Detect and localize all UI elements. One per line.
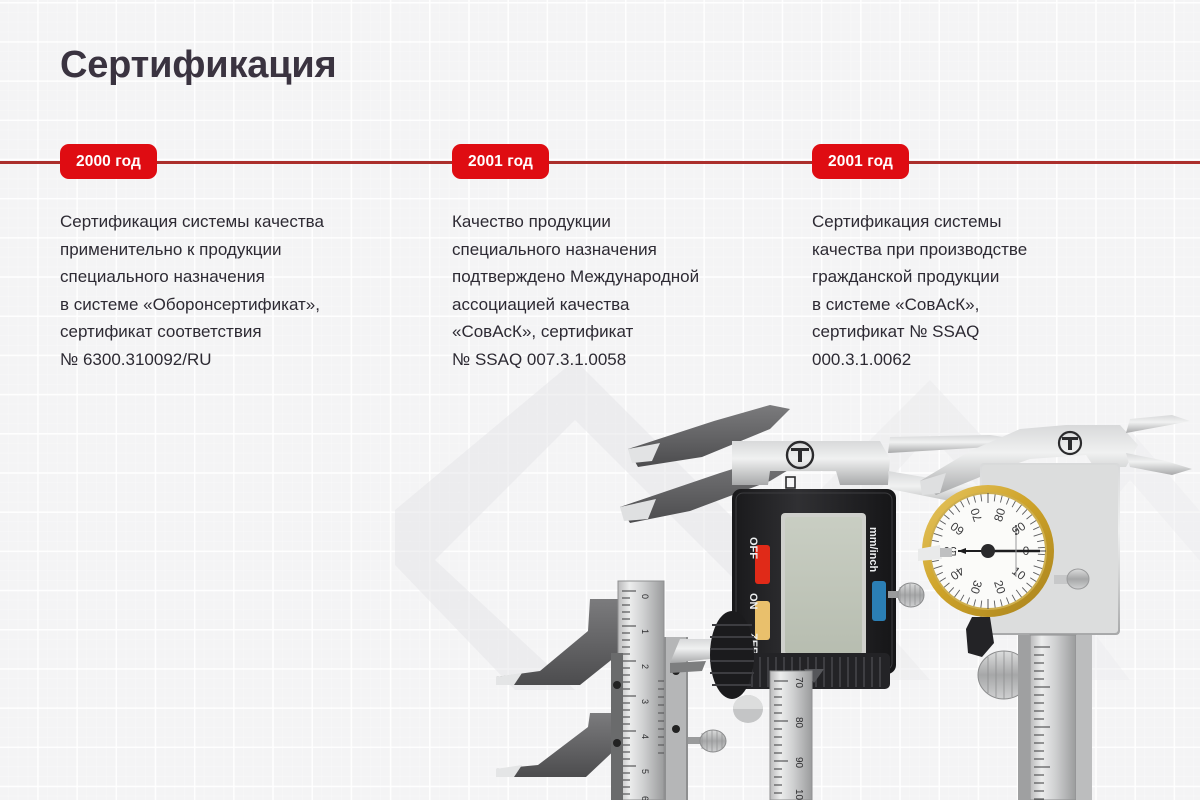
svg-text:100: 100 [793, 789, 804, 800]
mm-inch-button [872, 581, 886, 621]
svg-text:mm/inch: mm/inch [867, 527, 879, 573]
timeline-badge-2001-b[interactable]: 2001 год [812, 144, 909, 179]
svg-text:1: 1 [640, 629, 650, 634]
timeline-badge-2000[interactable]: 2000 год [60, 144, 157, 179]
svg-text:ON: ON [747, 593, 759, 610]
svg-text:OFF: OFF [747, 537, 759, 559]
timeline-badge-2001-a[interactable]: 2001 год [452, 144, 549, 179]
svg-text:90: 90 [793, 757, 804, 769]
certification-item-text-2: Качество продукции специального назначен… [452, 208, 827, 373]
svg-text:2: 2 [640, 664, 650, 669]
svg-text:3: 3 [640, 699, 650, 704]
svg-text:70: 70 [793, 677, 804, 689]
svg-text:6: 6 [640, 796, 650, 800]
svg-text:80: 80 [793, 717, 804, 729]
svg-text:0: 0 [640, 594, 650, 599]
slide-canvas: Сертификация 2000 год 2001 год 2001 год … [0, 0, 1200, 800]
svg-text:4: 4 [640, 734, 650, 739]
svg-text:5: 5 [640, 769, 650, 774]
dial-caliper: 0 10 20 30 40 50 60 70 80 90 [918, 415, 1192, 800]
certification-item-text-3: Сертификация системы качества при произв… [812, 208, 1187, 373]
calipers-photo: 0 1 2 3 4 5 6 [470, 385, 1200, 800]
page-title: Сертификация [60, 44, 337, 87]
timeline-rule [0, 161, 1200, 164]
certification-item-text-1: Сертификация системы качества применител… [60, 208, 435, 373]
